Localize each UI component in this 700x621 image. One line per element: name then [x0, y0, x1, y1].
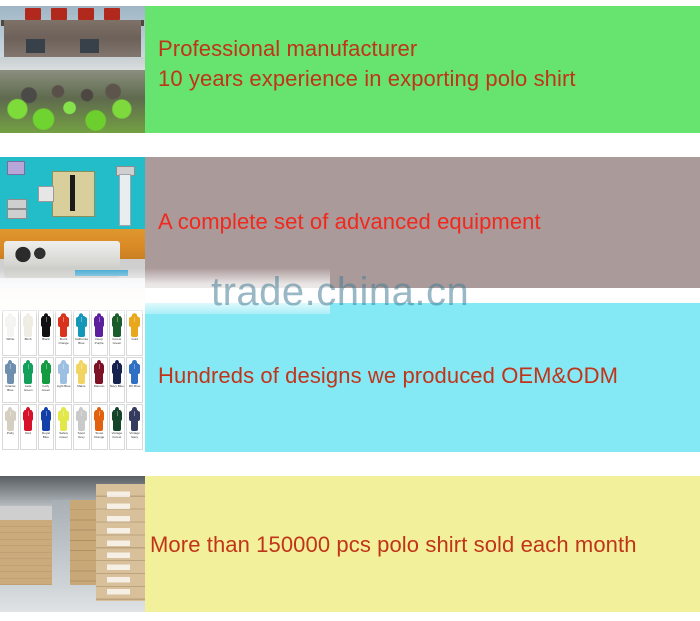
panel-3-text: Hundreds of designs we produced OEM&ODM: [158, 361, 618, 391]
panel-1-line-2: 10 years experience in exporting polo sh…: [158, 64, 576, 94]
panel-4-line-1: More than 150000 pcs polo shirt sold eac…: [150, 530, 637, 560]
promo-banner: Professional manufacturer 10 years exper…: [0, 0, 700, 621]
panel-1: Professional manufacturer 10 years exper…: [0, 6, 700, 133]
panel-1-line-1: Professional manufacturer: [158, 34, 576, 64]
panel-4-text: More than 150000 pcs polo shirt sold eac…: [150, 530, 637, 560]
panel-1-text: Professional manufacturer 10 years exper…: [158, 34, 576, 94]
panel-3-line-1: Hundreds of designs we produced OEM&ODM: [158, 361, 618, 391]
panel-2-text: A complete set of advanced equipment: [158, 207, 541, 237]
panel-4: More than 150000 pcs polo shirt sold eac…: [0, 476, 700, 612]
panel-2: A complete set of advanced equipment: [0, 157, 700, 288]
panel-2-line-1: A complete set of advanced equipment: [158, 207, 541, 237]
panel-3: Hundreds of designs we produced OEM&ODM: [0, 303, 700, 452]
